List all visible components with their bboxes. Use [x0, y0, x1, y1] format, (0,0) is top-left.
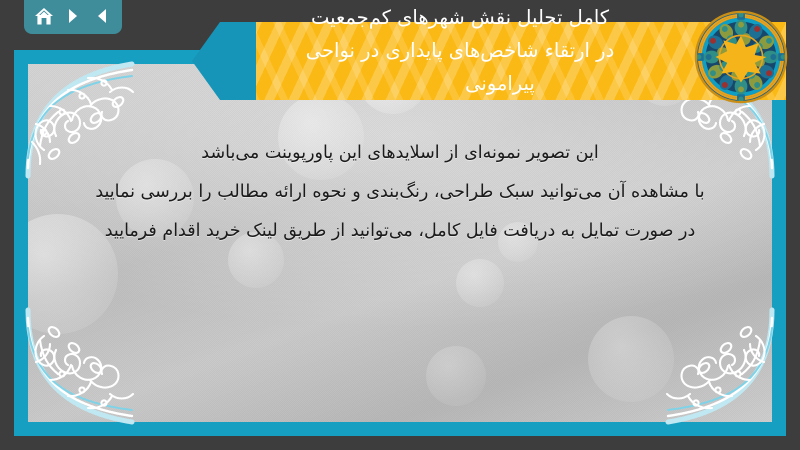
title-line-1: کامل تحلیل نقش شهرهای کم‌جمعیت [210, 1, 710, 34]
title-line-3: پیرامونی [210, 67, 750, 100]
persian-medallion-icon [692, 8, 790, 106]
triangle-left-icon [93, 7, 111, 25]
body-line-3: در صورت تمایل به دریافت فایل کامل، می‌تو… [40, 212, 760, 251]
page-title: کامل تحلیل نقش شهرهای کم‌جمعیت در ارتقاء… [210, 0, 710, 108]
body-line-2: با مشاهده آن می‌توانید سبک طراحی، رنگ‌بن… [40, 173, 760, 212]
back-button[interactable] [90, 4, 114, 28]
navigation-toolbar [24, 0, 122, 34]
home-icon [34, 7, 54, 26]
slide-stage: کامل تحلیل نقش شهرهای کم‌جمعیت در ارتقاء… [0, 0, 800, 450]
triangle-right-icon [64, 7, 82, 25]
forward-button[interactable] [61, 4, 85, 28]
slide-body: این تصویر نمونه‌ای از اسلایدهای این پاور… [40, 134, 760, 251]
title-line-2: در ارتقاء شاخص‌های پایداری در نواحی [210, 34, 710, 67]
home-button[interactable] [32, 4, 56, 28]
body-line-1: این تصویر نمونه‌ای از اسلایدهای این پاور… [40, 134, 760, 173]
